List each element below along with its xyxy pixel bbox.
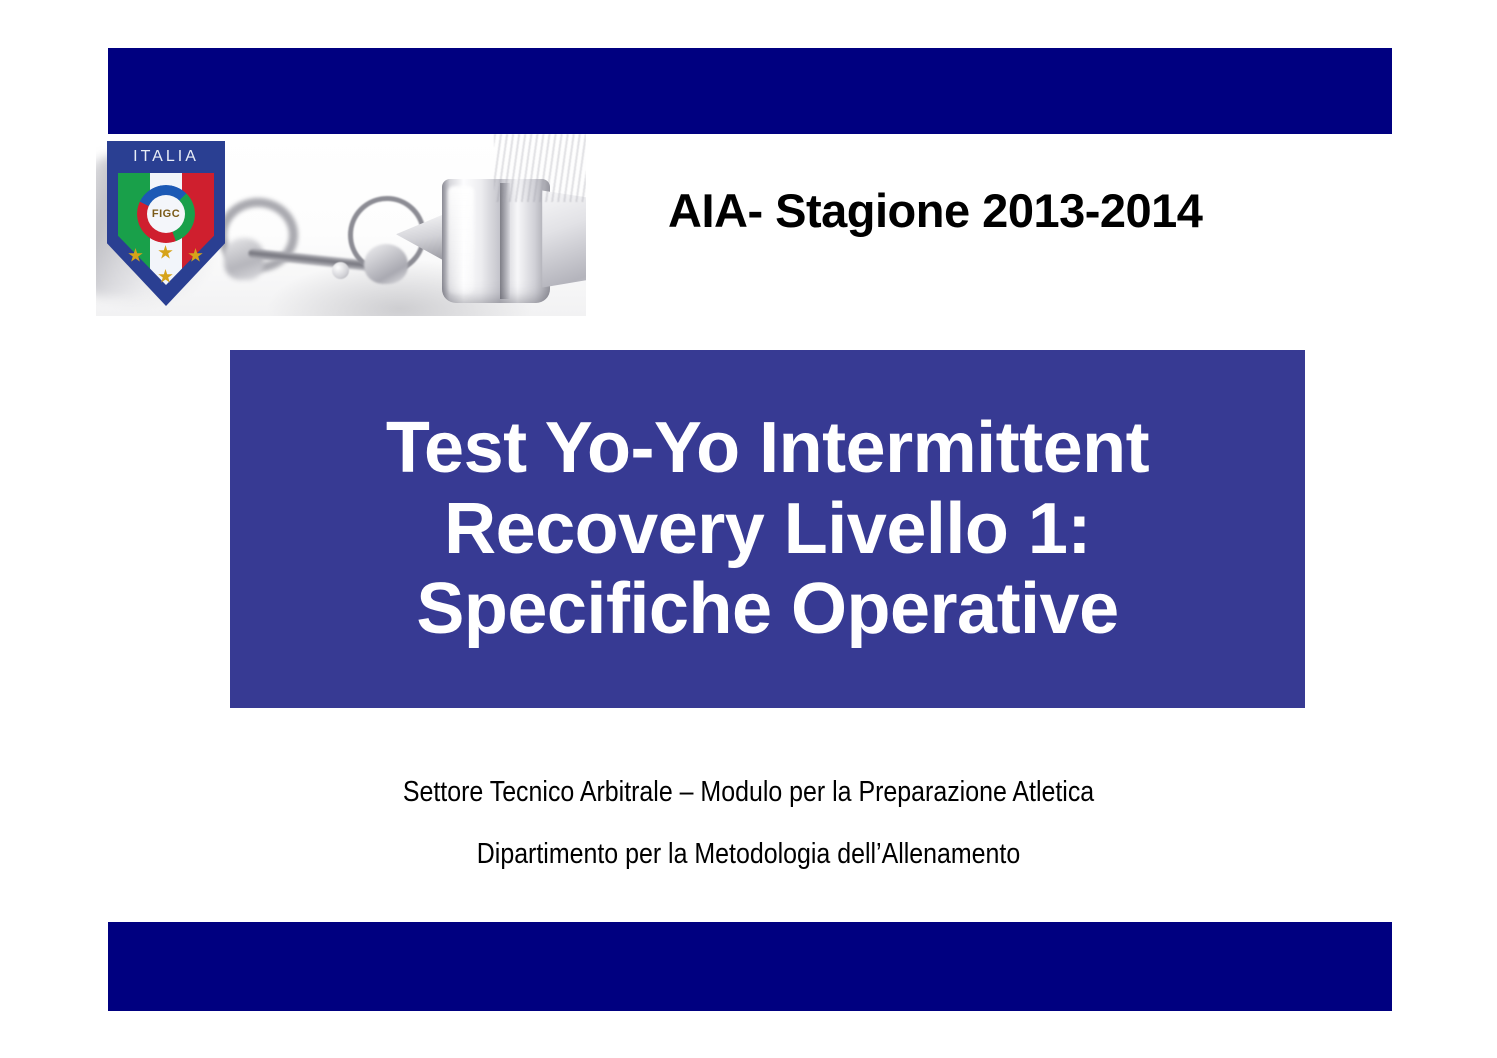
subtitle-line-2: Dipartimento per la Metodologia dell’All… bbox=[105, 840, 1392, 869]
slide-subtitle: Settore Tecnico Arbitrale – Modulo per l… bbox=[0, 778, 1497, 869]
top-accent-band bbox=[108, 48, 1392, 134]
logo-country-label: ITALIA bbox=[107, 148, 225, 166]
figc-italia-logo: ITALIA FIGC bbox=[107, 141, 225, 306]
slide-title-line-1: Test Yo-Yo Intermittent bbox=[386, 408, 1149, 489]
cord-bead bbox=[332, 262, 349, 279]
presentation-slide: ITALIA FIGC AIA- Stagione 2013-2014 Test… bbox=[0, 0, 1497, 1058]
slide-title-line-3: Specifiche Operative bbox=[416, 569, 1118, 650]
slide-title-box: Test Yo-Yo Intermittent Recovery Livello… bbox=[230, 350, 1305, 708]
whistle-lug bbox=[364, 244, 408, 284]
photo-texture bbox=[494, 134, 586, 202]
organization-season-heading: AIA- Stagione 2013-2014 bbox=[668, 186, 1368, 235]
slide-title-line-2: Recovery Livello 1: bbox=[444, 489, 1091, 570]
logo-federation-abbr: FIGC bbox=[147, 195, 185, 233]
bottom-accent-band bbox=[108, 922, 1392, 1011]
subtitle-line-1: Settore Tecnico Arbitrale – Modulo per l… bbox=[105, 778, 1392, 807]
whistle-highlight bbox=[448, 186, 474, 294]
